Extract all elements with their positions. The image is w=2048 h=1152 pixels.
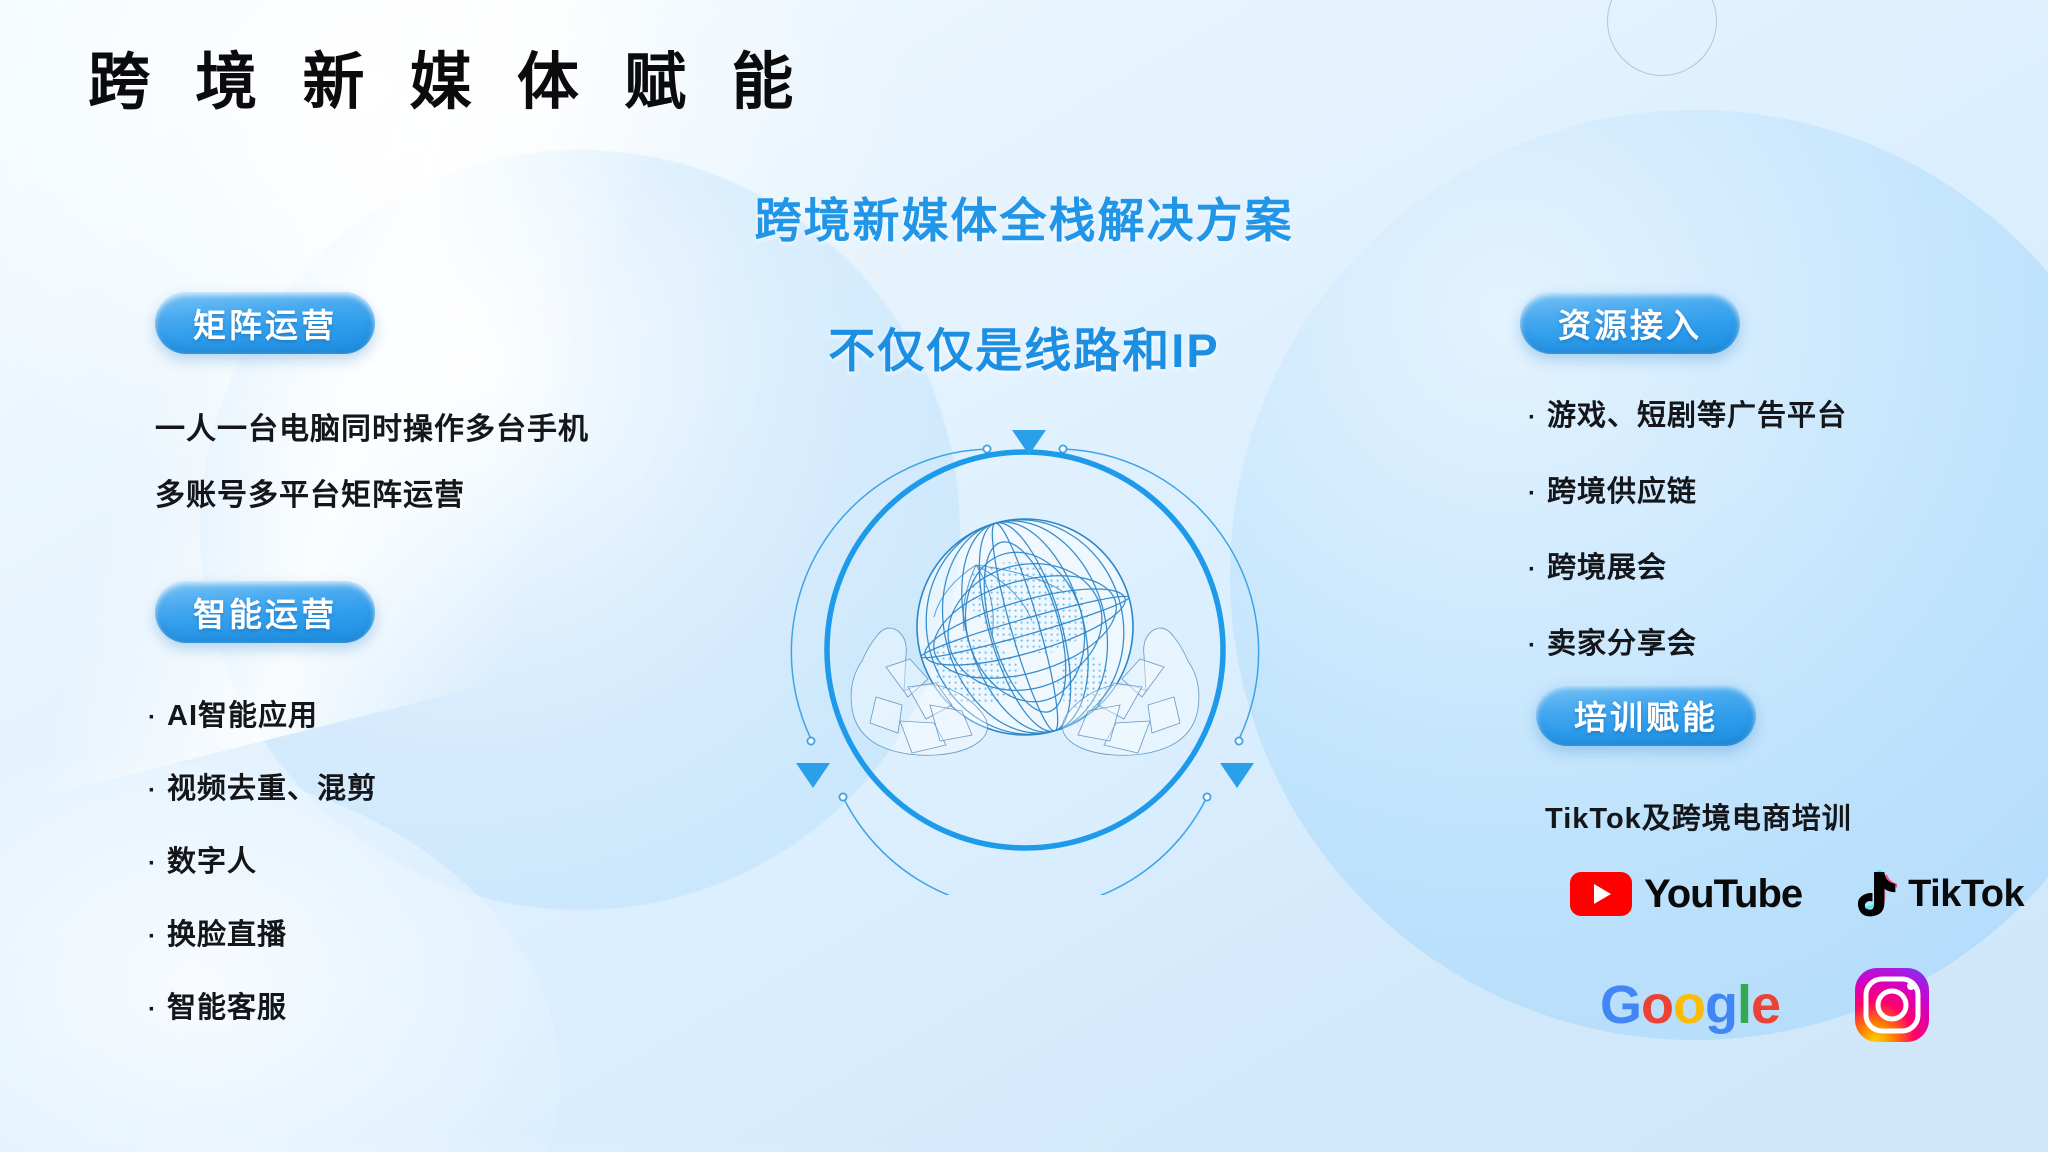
- youtube-play-icon: [1570, 872, 1632, 916]
- list-item: · 跨境供应链: [1528, 468, 1847, 510]
- smart-operations-list: · AI智能应用 · 视频去重、混剪 · 数字人 · 换脸直播 · 智能客服: [148, 692, 377, 1057]
- pill-label: 矩阵运营: [193, 299, 337, 347]
- resource-access-list: · 游戏、短剧等广告平台 · 跨境供应链 · 跨境展会 · 卖家分享会: [1528, 392, 1847, 696]
- bullet-dot-icon: ·: [1528, 406, 1537, 430]
- google-letter-o1: o: [1641, 975, 1673, 1035]
- youtube-wordmark: YouTube: [1644, 872, 1802, 917]
- list-item-label: 智能客服: [167, 984, 287, 1026]
- matrix-text-line-2: 多账号多平台矩阵运营: [155, 470, 465, 514]
- badge-matrix-operations: 矩阵运营: [155, 292, 375, 354]
- google-letter-o2: o: [1673, 975, 1705, 1035]
- google-letter-g2: g: [1705, 975, 1737, 1035]
- tiktok-wordmark: TikTok: [1908, 873, 2024, 916]
- google-logo: Google: [1600, 978, 1780, 1032]
- list-item: · 跨境展会: [1528, 544, 1847, 586]
- page-title: 跨 境 新 媒 体 赋 能: [88, 52, 807, 114]
- list-item: · 换脸直播: [148, 911, 377, 953]
- list-item: · 卖家分享会: [1528, 620, 1847, 662]
- list-item-label: 视频去重、混剪: [167, 765, 377, 807]
- tiktok-note-icon: [1854, 870, 1898, 918]
- matrix-text-line-1: 一人一台电脑同时操作多台手机: [155, 404, 589, 448]
- list-item: · 数字人: [148, 838, 377, 880]
- bullet-dot-icon: ·: [1528, 482, 1537, 506]
- bullet-dot-icon: ·: [148, 706, 157, 730]
- list-item-label: 卖家分享会: [1547, 620, 1697, 662]
- bullet-dot-icon: ·: [1528, 558, 1537, 582]
- instagram-logo: [1854, 967, 1930, 1043]
- badge-smart-operations: 智能运营: [155, 581, 375, 643]
- google-letter-e: e: [1751, 975, 1780, 1035]
- bullet-dot-icon: ·: [148, 779, 157, 803]
- center-heading-primary: 跨境新媒体全栈解决方案: [0, 182, 2048, 251]
- list-item-label: 游戏、短剧等广告平台: [1547, 392, 1847, 434]
- list-item: · 游戏、短剧等广告平台: [1528, 392, 1847, 434]
- globe-in-hands-graphic: [780, 405, 1270, 895]
- badge-resource-access: 资源接入: [1520, 292, 1740, 354]
- list-item-label: AI智能应用: [167, 692, 318, 734]
- pill-label: 资源接入: [1558, 299, 1702, 347]
- list-item-label: 数字人: [167, 838, 257, 880]
- google-letter-g1: G: [1600, 975, 1641, 1035]
- list-item-label: 跨境供应链: [1547, 468, 1697, 510]
- pill-label: 智能运营: [193, 588, 337, 636]
- youtube-logo: YouTube: [1570, 872, 1802, 917]
- slide-canvas: 跨 境 新 媒 体 赋 能 跨境新媒体全栈解决方案 不仅仅是线路和IP: [0, 0, 2048, 1152]
- list-item: · 智能客服: [148, 984, 377, 1026]
- google-letter-l: l: [1737, 975, 1751, 1035]
- bullet-dot-icon: ·: [148, 852, 157, 876]
- bullet-dot-icon: ·: [148, 925, 157, 949]
- list-item: · AI智能应用: [148, 692, 377, 734]
- bullet-dot-icon: ·: [148, 998, 157, 1022]
- list-item-label: 跨境展会: [1547, 544, 1667, 586]
- logo-row-bottom: Google: [1600, 967, 1930, 1043]
- training-text-line: TikTok及跨境电商培训: [1545, 795, 1852, 837]
- logo-row-top: YouTube TikTok: [1570, 870, 2024, 918]
- list-item: · 视频去重、混剪: [148, 765, 377, 807]
- pill-label: 培训赋能: [1574, 691, 1718, 739]
- list-item-label: 换脸直播: [167, 911, 287, 953]
- decorative-circle-outline: [1607, 0, 1717, 76]
- tiktok-logo: TikTok: [1854, 870, 2024, 918]
- badge-training-empowerment: 培训赋能: [1536, 684, 1756, 746]
- bullet-dot-icon: ·: [1528, 634, 1537, 658]
